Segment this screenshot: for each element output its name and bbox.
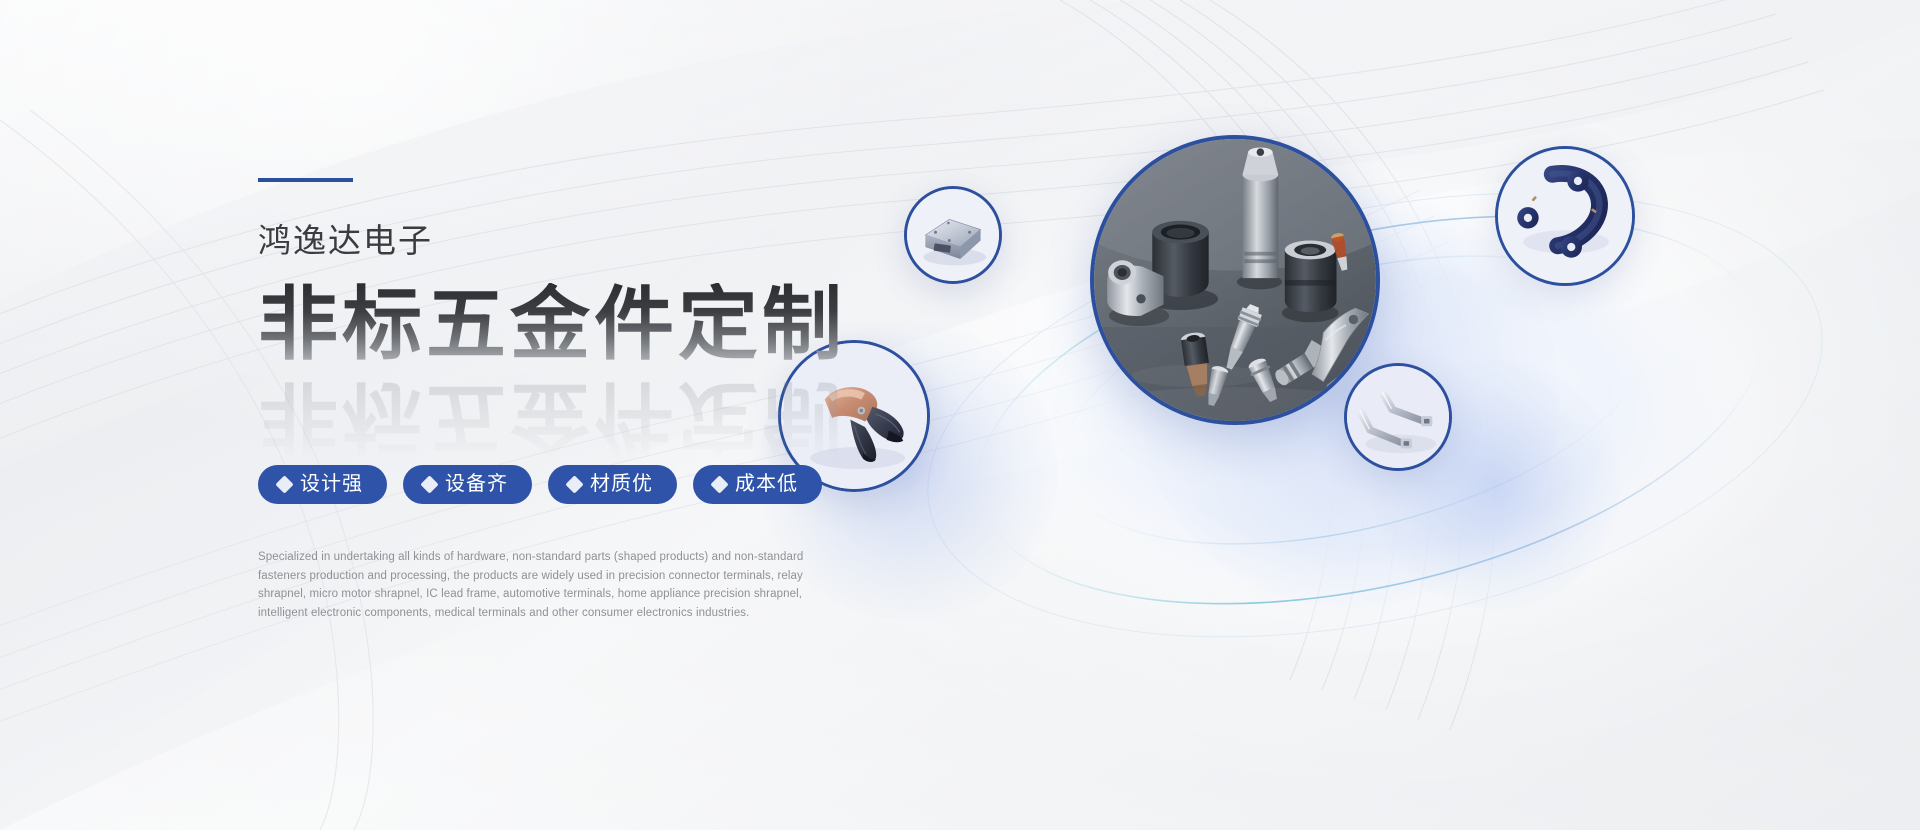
feature-pill-design[interactable]: 设计强 bbox=[258, 465, 387, 504]
feature-pill-label: 材质优 bbox=[590, 474, 653, 494]
retaining-ring-image bbox=[1498, 149, 1632, 283]
page-title: 非标五金件定制 bbox=[258, 283, 898, 367]
feature-pill-list: 设计强 设备齐 材质优 成本低 bbox=[258, 465, 898, 504]
feature-pill-label: 设计强 bbox=[300, 474, 363, 494]
product-showcase bbox=[900, 110, 1860, 670]
brand-name: 鸿逸达电子 bbox=[258, 224, 898, 257]
precision-machined-parts-image bbox=[1094, 139, 1376, 421]
feature-pill-cost[interactable]: 成本低 bbox=[693, 465, 822, 504]
diamond-icon bbox=[565, 475, 583, 493]
feature-pill-material[interactable]: 材质优 bbox=[548, 465, 677, 504]
product-node-retaining-ring[interactable] bbox=[1495, 146, 1635, 286]
product-node-metal-enclosure-box[interactable] bbox=[904, 186, 1002, 284]
accent-rule bbox=[258, 178, 353, 182]
diamond-icon bbox=[710, 475, 728, 493]
feature-pill-label: 设备齐 bbox=[445, 474, 508, 494]
diamond-icon bbox=[275, 475, 293, 493]
headline-reflection: 非标五金件定制 bbox=[258, 375, 846, 459]
metal-enclosure-box-image bbox=[907, 189, 999, 281]
product-node-precision-machined-parts[interactable] bbox=[1090, 135, 1380, 425]
diamond-icon bbox=[420, 475, 438, 493]
feature-pill-label: 成本低 bbox=[735, 474, 798, 494]
description-paragraph: Specialized in undertaking all kinds of … bbox=[258, 548, 823, 623]
bent-terminal-pins-image bbox=[1347, 366, 1449, 468]
hero-copy: 鸿逸达电子 非标五金件定制 非标五金件定制 设计强 设备齐 材质优 成本低 bbox=[258, 178, 898, 623]
feature-pill-equipment[interactable]: 设备齐 bbox=[403, 465, 532, 504]
headline-block: 非标五金件定制 非标五金件定制 bbox=[258, 283, 898, 411]
product-node-bent-terminal-pins[interactable] bbox=[1344, 363, 1452, 471]
hero-banner: 鸿逸达电子 非标五金件定制 非标五金件定制 设计强 设备齐 材质优 成本低 bbox=[0, 0, 1920, 830]
